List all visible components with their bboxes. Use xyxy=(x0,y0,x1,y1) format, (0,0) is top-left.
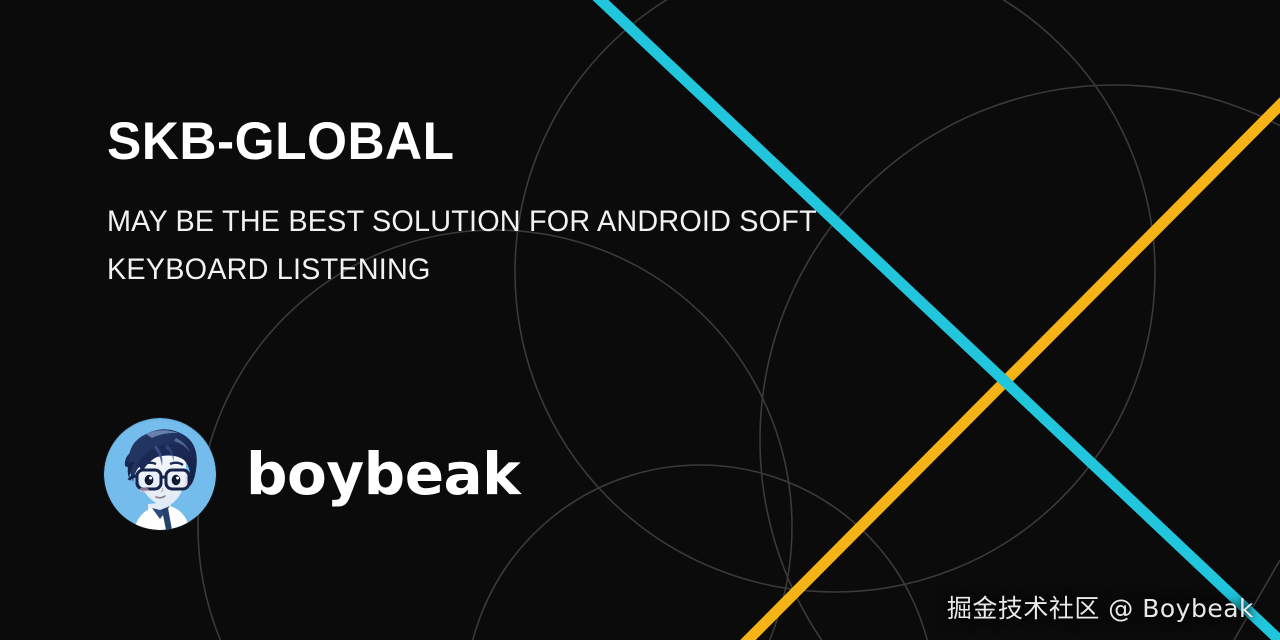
avatar xyxy=(104,418,216,530)
watermark-text: 掘金技术社区 @ Boybeak xyxy=(947,594,1254,624)
author-row: boybeak xyxy=(104,418,520,530)
accent-line-cyan xyxy=(592,0,1280,640)
background-decoration xyxy=(0,0,1280,640)
page-subtitle: MAY BE THE BEST SOLUTION FOR ANDROID SOF… xyxy=(107,172,837,294)
decor-circle-small-bottom xyxy=(465,465,935,640)
author-name: boybeak xyxy=(246,445,520,503)
cover-text-block: SKB-GLOBAL MAY BE THE BEST SOLUTION FOR … xyxy=(107,112,927,294)
decorative-circles xyxy=(198,0,1280,640)
page-title: SKB-GLOBAL xyxy=(107,112,902,172)
avatar-illustration-icon xyxy=(104,418,216,530)
decor-circle-large-top xyxy=(515,0,1155,592)
article-cover-banner: SKB-GLOBAL MAY BE THE BEST SOLUTION FOR … xyxy=(0,0,1280,640)
